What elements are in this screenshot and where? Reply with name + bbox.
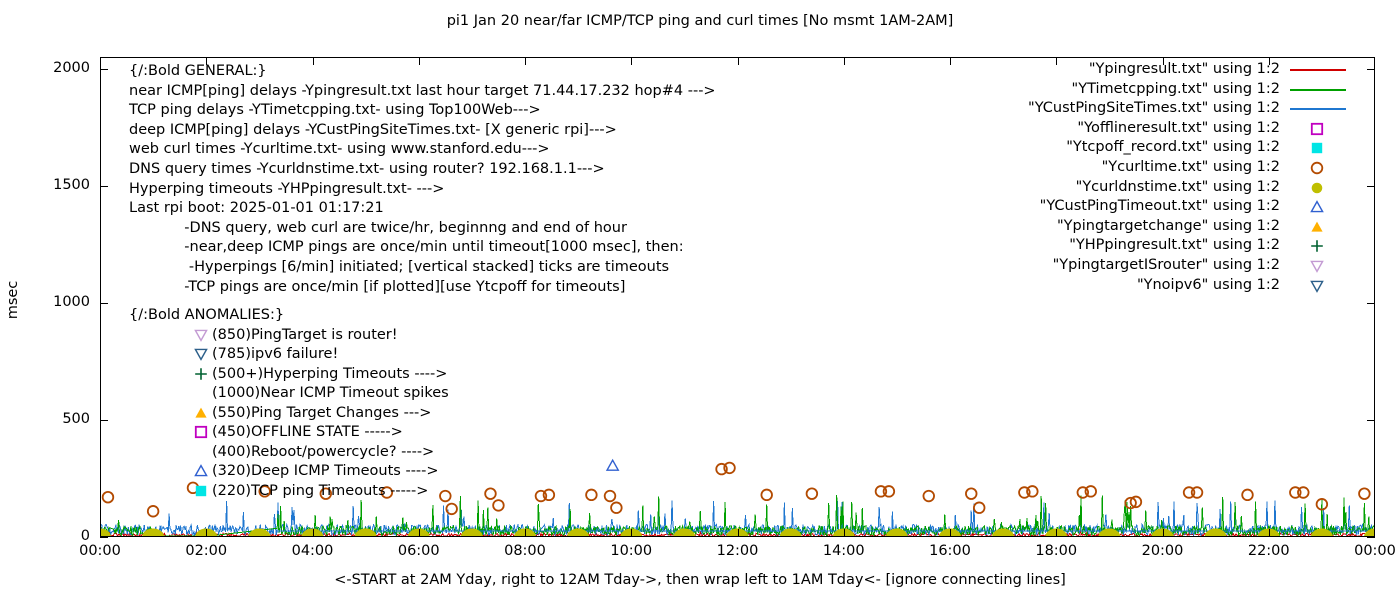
circle-filled-icon bbox=[1309, 180, 1325, 196]
legend-key bbox=[1290, 276, 1348, 296]
x-tick-mark bbox=[1269, 529, 1270, 537]
x-tick-label-10: 20:00 bbox=[1133, 544, 1193, 558]
y-tick-mark bbox=[1367, 537, 1375, 538]
legend-label-6: "Ycurldnstime.txt" using 1:2 bbox=[1076, 179, 1280, 195]
anomaly-label-5: (450)OFFLINE STATE -----> bbox=[212, 423, 403, 443]
legend-symbol-swatch bbox=[1309, 199, 1326, 215]
anomaly-marker bbox=[193, 366, 211, 383]
legend-key bbox=[1290, 217, 1348, 237]
legend-label-2: "YCustPingSiteTimes.txt" using 1:2 bbox=[1028, 100, 1280, 116]
x-tick-label-7: 14:00 bbox=[814, 544, 874, 558]
triangle-filled-icon bbox=[193, 405, 209, 421]
general-line-7: -DNS query, web curl are twice/hr, begin… bbox=[129, 219, 716, 239]
anomaly-row: (220)TCP ping Timeouts -----> bbox=[129, 482, 284, 502]
x-tick-mark bbox=[1163, 529, 1164, 537]
x-tick-label-3: 06:00 bbox=[389, 544, 449, 558]
general-line-5: Hyperping timeouts -YHPpingresult.txt- -… bbox=[129, 180, 716, 200]
y-tick-label-1: 500 bbox=[40, 412, 90, 426]
x-tick-label-4: 08:00 bbox=[495, 544, 555, 558]
x-tick-mark bbox=[206, 529, 207, 537]
square-open-icon bbox=[193, 424, 209, 440]
legend-label-1: "YTimetcpping.txt" using 1:2 bbox=[1072, 81, 1280, 97]
anomaly-label-2: (500+)Hyperping Timeouts ----> bbox=[212, 365, 447, 385]
x-tick-label-11: 22:00 bbox=[1239, 544, 1299, 558]
legend-label-4: "Ytcpoff_record.txt" using 1:2 bbox=[1066, 139, 1280, 155]
anomalies-annotation-block: {/:Bold ANOMALIES:}(850)PingTarget is ro… bbox=[129, 306, 284, 501]
anomaly-label-4: (550)Ping Target Changes ---> bbox=[212, 404, 431, 424]
anomaly-label-1: (785)ipv6 failure! bbox=[212, 345, 338, 365]
legend-symbol-swatch bbox=[1309, 160, 1326, 176]
y-tick-mark bbox=[100, 420, 108, 421]
legend-label-5: "Ycurltime.txt" using 1:2 bbox=[1102, 159, 1280, 175]
anomaly-row: (500+)Hyperping Timeouts ----> bbox=[129, 365, 284, 385]
anomaly-marker bbox=[193, 346, 211, 363]
inv-triangle-open-purple-icon bbox=[193, 327, 209, 343]
x-tick-label-12: 00:00 bbox=[1345, 544, 1400, 558]
legend-key bbox=[1290, 119, 1348, 139]
x-tick-label-6: 12:00 bbox=[708, 544, 768, 558]
x-tick-mark bbox=[844, 529, 845, 537]
general-line-6: Last rpi boot: 2025-01-01 01:17:21 bbox=[129, 199, 716, 219]
legend-item[interactable]: "Ytcpoff_record.txt" using 1:2 bbox=[930, 138, 1280, 158]
anomaly-row: (400)Reboot/powercycle? ----> bbox=[129, 443, 284, 463]
legend-label-9: "YHPpingresult.txt" using 1:2 bbox=[1069, 237, 1280, 253]
legend-symbol-swatch bbox=[1309, 219, 1326, 235]
general-heading: {/:Bold GENERAL:} bbox=[129, 62, 716, 82]
legend-key bbox=[1290, 60, 1348, 80]
x-tick-mark bbox=[525, 529, 526, 537]
general-annotation-block: {/:Bold GENERAL:}near ICMP[ping] delays … bbox=[129, 62, 716, 297]
y-tick-mark bbox=[100, 69, 108, 70]
plus-icon bbox=[1309, 238, 1325, 254]
general-line-8: -near,deep ICMP pings are once/min until… bbox=[129, 238, 716, 258]
y-tick-label-4: 2000 bbox=[40, 61, 90, 75]
y-tick-label-0: 0 bbox=[40, 529, 90, 543]
inv-triangle-open-blue-icon bbox=[1309, 278, 1325, 294]
anomaly-label-0: (850)PingTarget is router! bbox=[212, 326, 398, 346]
legend-label-8: "Ypingtargetchange" using 1:2 bbox=[1057, 218, 1280, 234]
chart-page: pi1 Jan 20 near/far ICMP/TCP ping and cu… bbox=[0, 0, 1400, 600]
legend-line-swatch bbox=[1290, 89, 1346, 91]
y-tick-mark bbox=[1367, 186, 1375, 187]
general-line-3: web curl times -Ycurltime.txt- using www… bbox=[129, 140, 716, 160]
page-title: pi1 Jan 20 near/far ICMP/TCP ping and cu… bbox=[0, 13, 1400, 29]
x-tick-mark bbox=[313, 529, 314, 537]
legend-label-7: "YCustPingTimeout.txt" using 1:2 bbox=[1040, 198, 1280, 214]
circle-open-icon bbox=[1309, 160, 1325, 176]
inv-triangle-open-purple-icon bbox=[1309, 258, 1325, 274]
general-line-1: TCP ping delays -YTimetcpping.txt- using… bbox=[129, 101, 716, 121]
x-tick-mark bbox=[844, 57, 845, 65]
x-tick-mark bbox=[419, 529, 420, 537]
plus-icon bbox=[193, 366, 209, 382]
general-line-9: -Hyperpings [6/min] initiated; [vertical… bbox=[129, 258, 716, 278]
legend-key bbox=[1290, 256, 1348, 276]
x-tick-label-2: 04:00 bbox=[283, 544, 343, 558]
legend-key bbox=[1290, 158, 1348, 178]
general-line-2: deep ICMP[ping] delays -YCustPingSiteTim… bbox=[129, 121, 716, 141]
anomaly-label-7: (320)Deep ICMP Timeouts ----> bbox=[212, 462, 439, 482]
legend-label-10: "YpingtargetISrouter" using 1:2 bbox=[1053, 257, 1280, 273]
legend-item[interactable]: "YCustPingSiteTimes.txt" using 1:2 bbox=[930, 99, 1280, 119]
y-tick-label-3: 1500 bbox=[40, 178, 90, 192]
general-line-4: DNS query times -Ycurldnstime.txt- using… bbox=[129, 160, 716, 180]
anomaly-label-8: (220)TCP ping Timeouts -----> bbox=[212, 482, 428, 502]
triangle-filled-icon bbox=[1309, 219, 1325, 235]
anomaly-row: (320)Deep ICMP Timeouts ----> bbox=[129, 462, 284, 482]
x-tick-label-8: 16:00 bbox=[920, 544, 980, 558]
anomalies-heading: {/:Bold ANOMALIES:} bbox=[129, 306, 284, 326]
legend-key bbox=[1290, 197, 1348, 217]
x-tick-label-0: 00:00 bbox=[70, 544, 130, 558]
legend-item[interactable]: "Ypingtargetchange" using 1:2 bbox=[930, 217, 1280, 237]
y-axis-label: msec bbox=[5, 270, 21, 330]
anomaly-marker bbox=[193, 463, 211, 480]
anomaly-label-6: (400)Reboot/powercycle? ----> bbox=[212, 443, 434, 463]
legend-key bbox=[1290, 236, 1348, 256]
x-tick-mark bbox=[631, 529, 632, 537]
anomaly-marker bbox=[193, 327, 211, 344]
inv-triangle-open-blue-icon bbox=[193, 346, 209, 362]
legend-line-swatch bbox=[1290, 69, 1346, 71]
legend-symbol-swatch bbox=[1309, 278, 1326, 294]
x-tick-label-9: 18:00 bbox=[1026, 544, 1086, 558]
x-tick-label-5: 10:00 bbox=[601, 544, 661, 558]
legend-symbol-swatch bbox=[1309, 258, 1326, 274]
anomaly-row: (850)PingTarget is router! bbox=[129, 326, 284, 346]
y-tick-mark bbox=[1367, 69, 1375, 70]
legend-symbol-swatch bbox=[1309, 238, 1326, 254]
legend-symbol-swatch bbox=[1309, 121, 1326, 137]
legend-label-11: "Ynoipv6" using 1:2 bbox=[1137, 277, 1280, 293]
legend-item[interactable]: "Yofflineresult.txt" using 1:2 bbox=[930, 119, 1280, 139]
legend-item[interactable]: "Ypingresult.txt" using 1:2 bbox=[930, 60, 1280, 80]
y-tick-mark bbox=[100, 186, 108, 187]
triangle-open-icon bbox=[1309, 199, 1325, 215]
legend-item[interactable]: "Ycurltime.txt" using 1:2 bbox=[930, 158, 1280, 178]
legend-item[interactable]: "YpingtargetISrouter" using 1:2 bbox=[930, 256, 1280, 276]
y-tick-mark bbox=[100, 303, 108, 304]
anomaly-row: (1000)Near ICMP Timeout spikes bbox=[129, 384, 284, 404]
x-tick-mark bbox=[738, 529, 739, 537]
legend-label-3: "Yofflineresult.txt" using 1:2 bbox=[1077, 120, 1280, 136]
legend-item[interactable]: "Ycurldnstime.txt" using 1:2 bbox=[930, 178, 1280, 198]
legend-item[interactable]: "Ynoipv6" using 1:2 bbox=[930, 276, 1280, 296]
x-tick-mark bbox=[738, 57, 739, 65]
anomaly-marker bbox=[193, 483, 211, 500]
square-filled-icon bbox=[1309, 140, 1325, 156]
legend-item[interactable]: "YTimetcpping.txt" using 1:2 bbox=[930, 80, 1280, 100]
legend-symbol-swatch bbox=[1309, 180, 1326, 196]
legend-line-swatch bbox=[1290, 108, 1346, 110]
anomaly-row: (450)OFFLINE STATE -----> bbox=[129, 423, 284, 443]
legend-item[interactable]: "YHPpingresult.txt" using 1:2 bbox=[930, 236, 1280, 256]
anomaly-label-3: (1000)Near ICMP Timeout spikes bbox=[212, 384, 449, 404]
legend-item[interactable]: "YCustPingTimeout.txt" using 1:2 bbox=[930, 197, 1280, 217]
legend-symbol-swatch bbox=[1309, 140, 1326, 156]
legend: "Ypingresult.txt" using 1:2"YTimetcpping… bbox=[930, 60, 1280, 295]
square-filled-icon bbox=[193, 483, 209, 499]
x-axis-label: <-START at 2AM Yday, right to 12AM Tday-… bbox=[0, 572, 1400, 588]
triangle-open-icon bbox=[193, 463, 209, 479]
anomaly-row: (785)ipv6 failure! bbox=[129, 345, 284, 365]
legend-key bbox=[1290, 178, 1348, 198]
anomaly-marker bbox=[193, 424, 211, 441]
y-tick-mark bbox=[1367, 420, 1375, 421]
y-tick-mark bbox=[1367, 303, 1375, 304]
legend-key bbox=[1290, 80, 1348, 100]
x-tick-label-1: 02:00 bbox=[176, 544, 236, 558]
legend-label-0: "Ypingresult.txt" using 1:2 bbox=[1089, 61, 1280, 77]
anomaly-row: (550)Ping Target Changes ---> bbox=[129, 404, 284, 424]
anomaly-marker bbox=[193, 405, 211, 422]
x-tick-mark bbox=[950, 529, 951, 537]
legend-key bbox=[1290, 138, 1348, 158]
y-tick-label-2: 1000 bbox=[40, 295, 90, 309]
general-line-10: -TCP pings are once/min [if plotted][use… bbox=[129, 278, 716, 298]
square-open-icon bbox=[1309, 121, 1325, 137]
y-tick-mark bbox=[100, 537, 108, 538]
general-line-0: near ICMP[ping] delays -Ypingresult.txt … bbox=[129, 82, 716, 102]
x-tick-mark bbox=[1056, 529, 1057, 537]
legend-key bbox=[1290, 99, 1348, 119]
